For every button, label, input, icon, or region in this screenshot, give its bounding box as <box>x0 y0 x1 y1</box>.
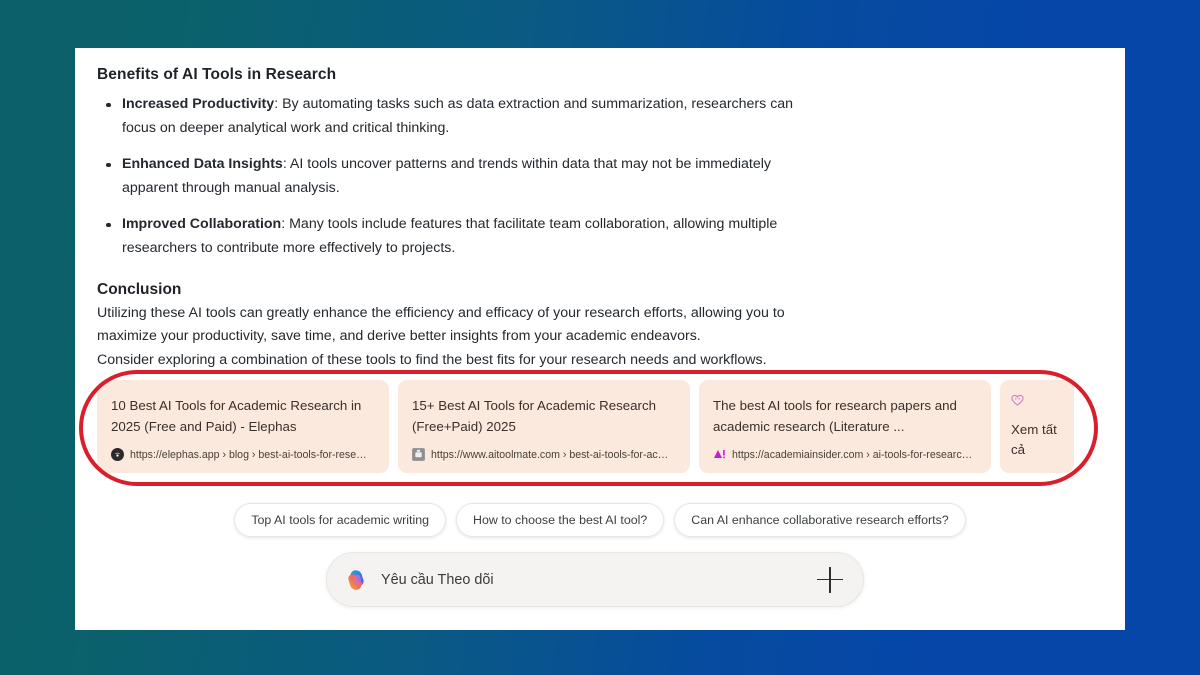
citation-url: https://elephas.app › blog › best-ai-too… <box>130 449 367 461</box>
suggestion-chip-2[interactable]: How to choose the best AI tool? <box>456 503 664 537</box>
citation-url-row: https://elephas.app › blog › best-ai-too… <box>111 448 375 461</box>
composer-placeholder[interactable]: Yêu cầu Theo dõi <box>381 572 817 588</box>
citation-url: https://www.aitoolmate.com › best-ai-too… <box>431 449 668 461</box>
answer-panel: Benefits of AI Tools in Research Increas… <box>75 48 1125 630</box>
citation-title: The best AI tools for research papers an… <box>713 396 977 437</box>
citation-url: https://academiainsider.com › ai-tools-f… <box>732 449 972 461</box>
plus-icon[interactable] <box>817 567 843 593</box>
citation-card[interactable]: 15+ Best AI Tools for Academic Research … <box>398 380 690 473</box>
composer-bar[interactable]: Yêu cầu Theo dõi <box>326 552 864 607</box>
citation-url-row: https://academiainsider.com › ai-tools-f… <box>713 448 977 461</box>
citation-title: 15+ Best AI Tools for Academic Research … <box>412 396 676 437</box>
citation-card[interactable]: 10 Best AI Tools for Academic Research i… <box>97 380 389 473</box>
bullet-term: Increased Productivity <box>122 96 274 112</box>
benefits-heading: Benefits of AI Tools in Research <box>97 66 1103 84</box>
conclusion-heading: Conclusion <box>97 281 1103 299</box>
conclusion-paragraph-2: Consider exploring a combination of thes… <box>97 349 802 372</box>
suggestion-chip-3[interactable]: Can AI enhance collaborative research ef… <box>674 503 965 537</box>
citation-url-row: https://www.aitoolmate.com › best-ai-too… <box>412 448 676 461</box>
list-item: Improved Collaboration: Many tools inclu… <box>101 213 813 260</box>
aitoolmate-favicon-icon <box>412 448 425 461</box>
suggestion-chip-1[interactable]: Top AI tools for academic writing <box>234 503 446 537</box>
citation-card-strip: 10 Best AI Tools for Academic Research i… <box>97 380 1074 473</box>
benefits-list: Increased Productivity: By automating ta… <box>101 93 1103 260</box>
suggestion-chips: Top AI tools for academic writing How to… <box>0 503 1200 537</box>
elephas-favicon-icon <box>111 448 124 461</box>
see-all-citations-button[interactable]: Xem tất cả <box>1000 380 1074 473</box>
copilot-logo-icon <box>344 568 368 592</box>
sparkle-heart-icon <box>1011 393 1063 411</box>
bullet-term: Enhanced Data Insights <box>122 156 283 172</box>
conclusion-paragraph-1: Utilizing these AI tools can greatly enh… <box>97 302 802 349</box>
list-item: Increased Productivity: By automating ta… <box>101 93 813 140</box>
citation-title: 10 Best AI Tools for Academic Research i… <box>111 396 375 437</box>
article-body: Benefits of AI Tools in Research Increas… <box>75 48 1125 372</box>
academiainsider-favicon-icon <box>713 448 726 461</box>
citation-card[interactable]: The best AI tools for research papers an… <box>699 380 991 473</box>
list-item: Enhanced Data Insights: AI tools uncover… <box>101 153 813 200</box>
bullet-term: Improved Collaboration <box>122 216 281 232</box>
see-all-label: Xem tất cả <box>1011 420 1063 460</box>
